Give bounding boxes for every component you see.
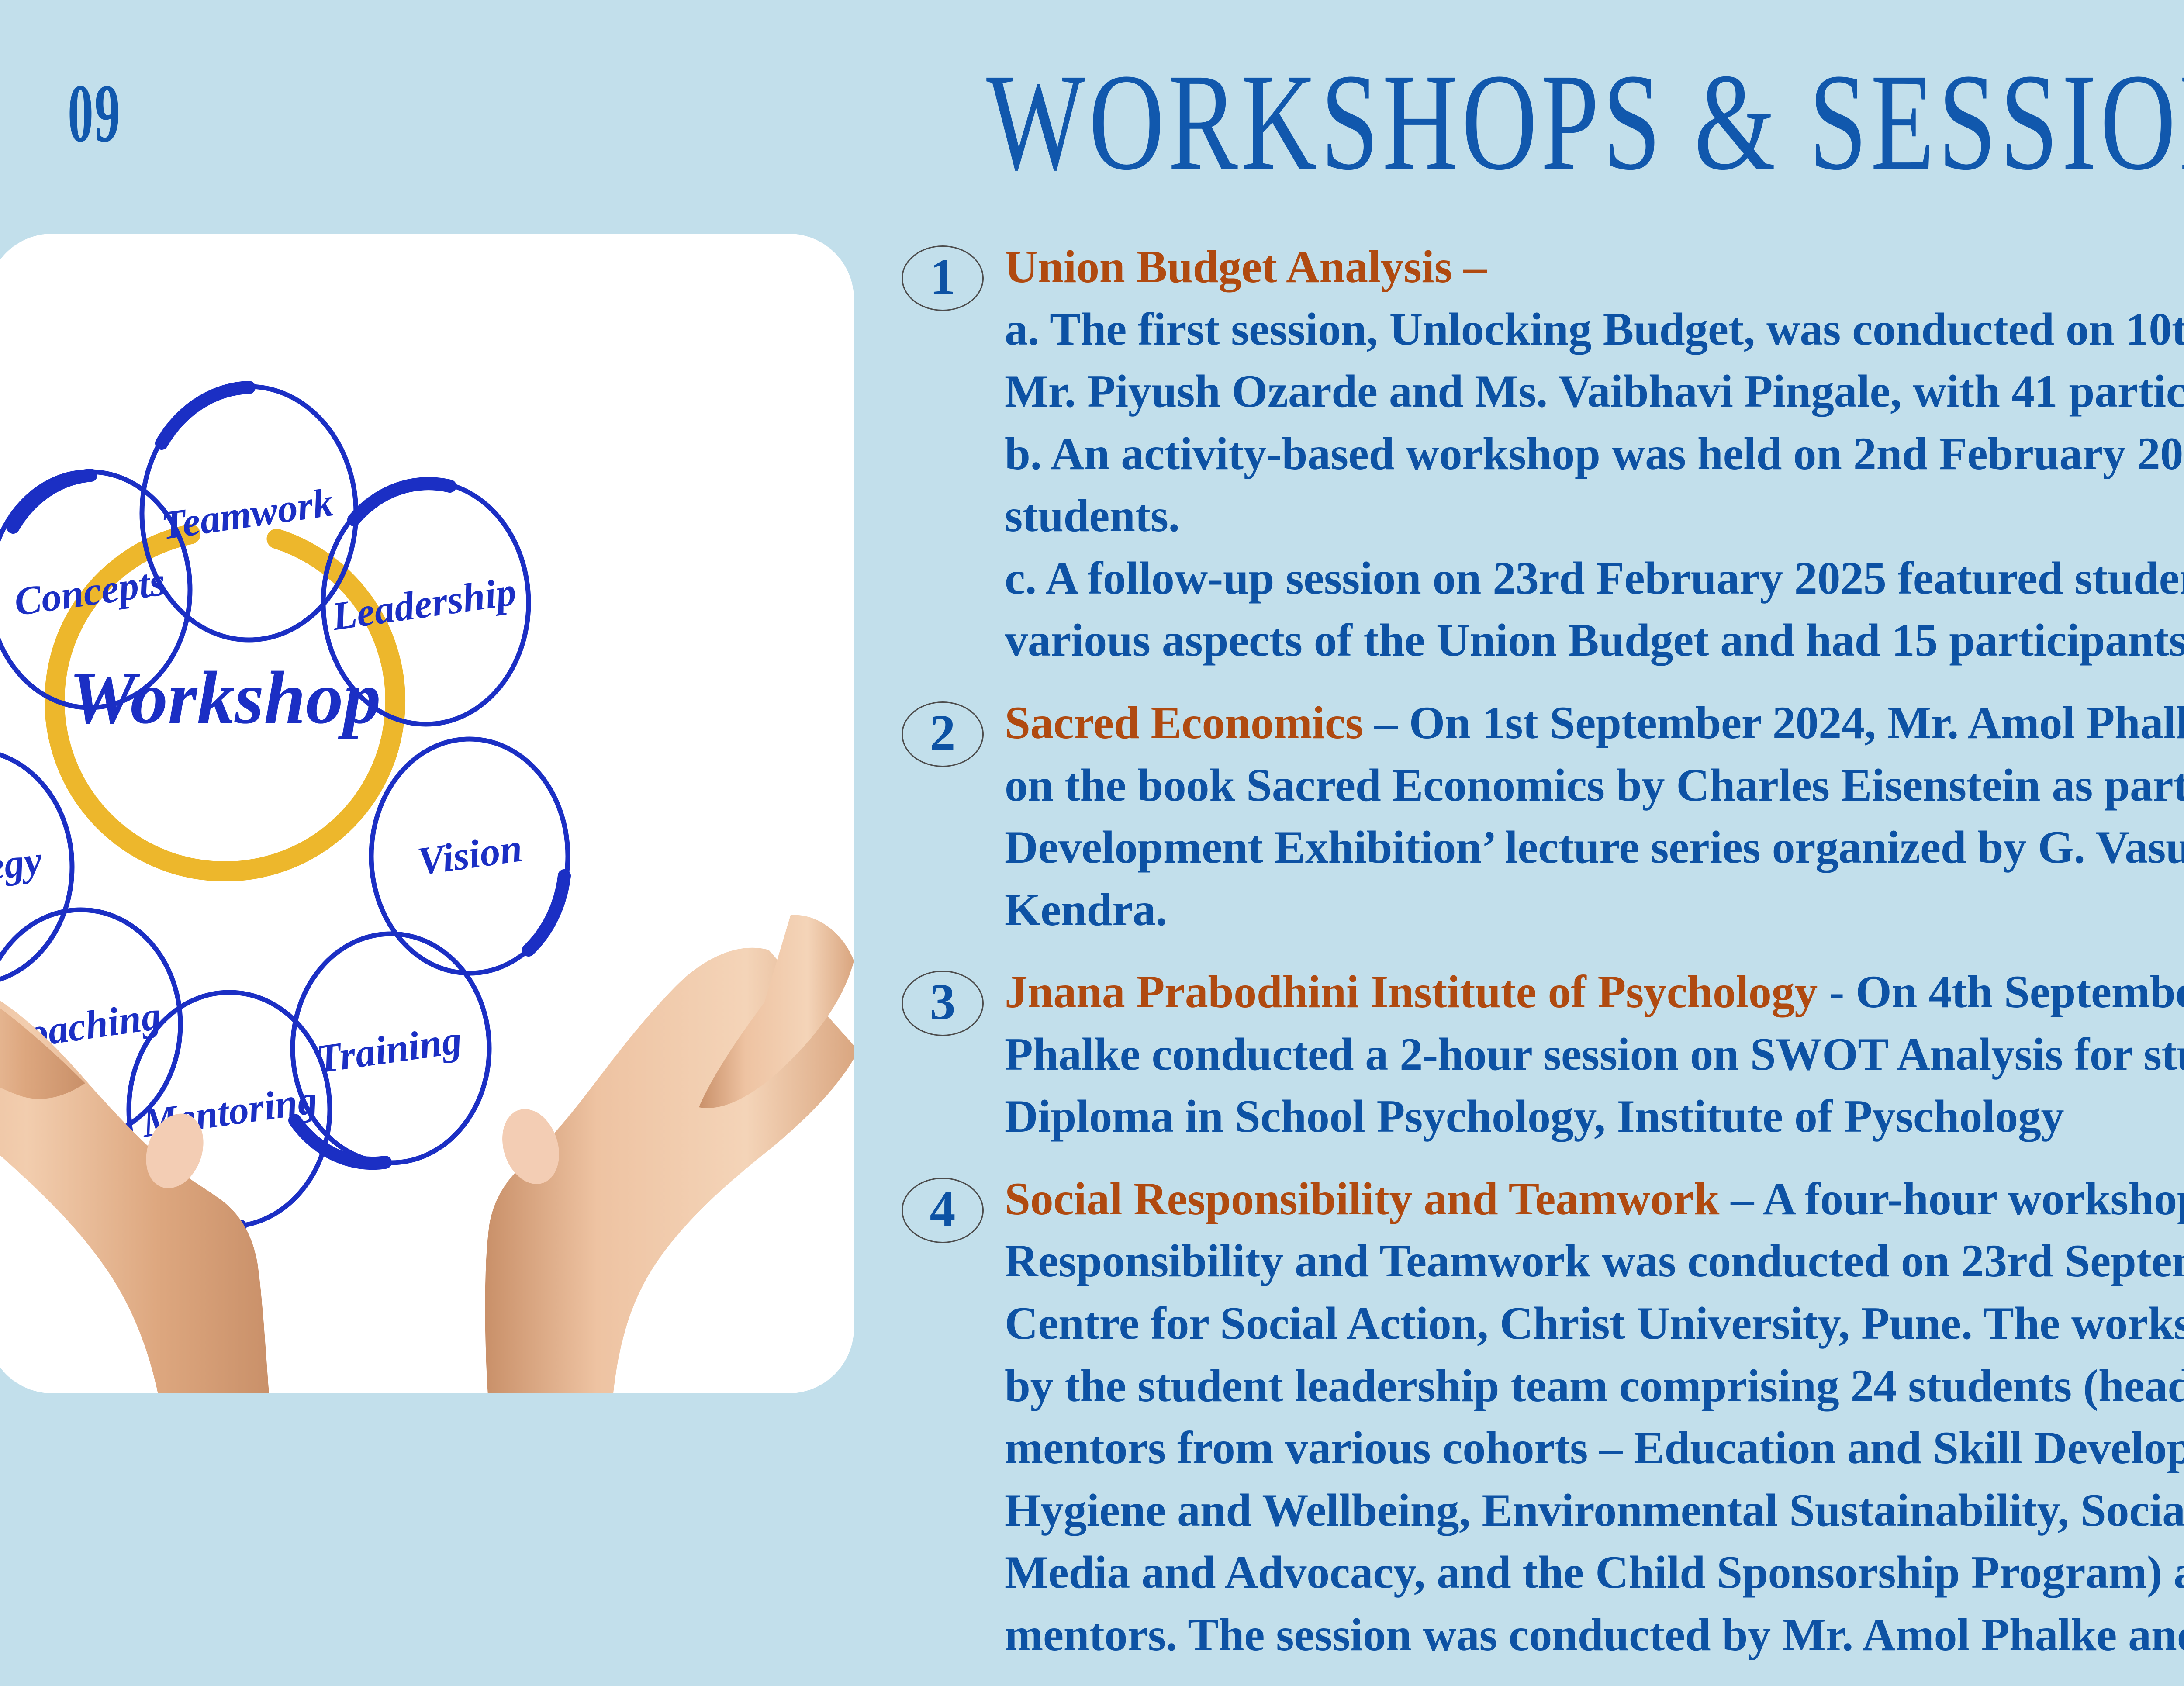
item-description: – A four-hour workshop on Social Respons… [1005,1173,2184,1660]
item-number-badge: 3 [902,971,984,1036]
item-number-badge: 1 [902,245,984,311]
item-number: 1 [930,251,956,303]
item-number-badge: 2 [902,701,984,767]
list-item: 2 Sacred Economics – On 1st September 20… [895,692,2184,941]
workshop-center-label: Workshop [69,656,381,739]
workshop-diagram-image: Teamwork Concepts Leadership Vision Trai… [0,234,854,1393]
item-title: Social Responsibility and Teamwork [1005,1173,1719,1224]
item-text: Jnana Prabodhini Institute of Psychology… [1005,961,2184,1148]
item-title: Sacred Economics [1005,697,1363,748]
item-text: Union Budget Analysis –a. The first sess… [1005,236,2184,672]
item-number: 3 [930,976,956,1028]
item-title: Union Budget Analysis – [1005,241,1487,292]
list-item: 3 Jnana Prabodhini Institute of Psycholo… [895,961,2184,1148]
page-title: WORKSHOPS & SESSIONS [986,52,2184,191]
list-item: 1 Union Budget Analysis –a. The first se… [895,236,2184,672]
item-number-badge: 4 [902,1178,984,1243]
item-text: Sacred Economics – On 1st September 2024… [1005,692,2184,941]
workshop-sessions-list: 1 Union Budget Analysis –a. The first se… [895,236,2184,1686]
item-text: Social Responsibility and Teamwork – A f… [1005,1168,2184,1666]
item-title: Jnana Prabodhini Institute of Psychology [1005,966,1818,1017]
item-number: 4 [930,1183,956,1235]
page-number: 09 [68,72,121,155]
item-description: a. The first session, Unlocking Budget, … [1005,304,2184,666]
list-item: 4 Social Responsibility and Teamwork – A… [895,1168,2184,1666]
workshop-diagram-card: Teamwork Concepts Leadership Vision Trai… [0,234,854,1393]
item-number: 2 [930,707,956,759]
